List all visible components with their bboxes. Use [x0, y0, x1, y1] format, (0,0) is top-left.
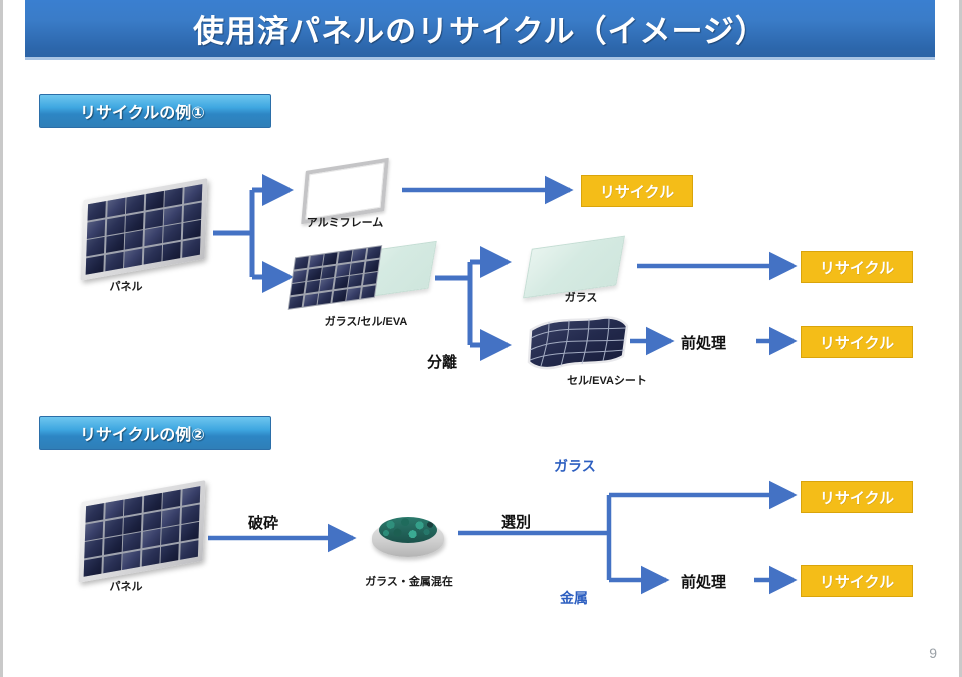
recycle-box-5[interactable]: リサイクル — [801, 565, 913, 597]
label-cell-eva-sheet: セル/EVAシート — [551, 372, 663, 388]
label-aluminum-frame: アルミフレーム — [293, 214, 397, 230]
recycle-box-2[interactable]: リサイクル — [801, 251, 913, 283]
section-badge-label-1: リサイクルの例① — [40, 99, 205, 123]
recycle-box-label-4: リサイクル — [820, 487, 894, 508]
s1-separation-split-connector — [435, 262, 508, 345]
process-crushing: 破砕 — [248, 512, 278, 533]
process-separation: 分離 — [427, 351, 457, 372]
cell-array-icon-composite — [288, 245, 382, 309]
solar-panel-icon-2 — [79, 480, 205, 582]
s2-sorting-split-connector — [458, 495, 794, 580]
solar-panel-icon-1 — [81, 178, 207, 280]
glass-metal-mix-icon — [372, 515, 444, 559]
branch-label-metal: 金属 — [560, 588, 588, 608]
slide-root: 使用済パネルのリサイクル（イメージ） — [0, 0, 962, 677]
label-glass: ガラス — [551, 289, 611, 305]
label-glass-cell-eva: ガラス/セル/EVA — [303, 313, 429, 329]
recycle-box-label-2: リサイクル — [820, 257, 894, 278]
process-pretreatment-2: 前処理 — [681, 571, 726, 592]
recycle-box-label-5: リサイクル — [820, 571, 894, 592]
slide-title-bar: 使用済パネルのリサイクル（イメージ） — [25, 0, 935, 60]
label-panel-1: パネル — [81, 278, 171, 294]
recycle-box-label-3: リサイクル — [820, 332, 894, 353]
label-glass-metal-mix: ガラス・金属混在 — [355, 573, 463, 589]
recycle-box-4[interactable]: リサイクル — [801, 481, 913, 513]
recycle-box-1[interactable]: リサイクル — [581, 175, 693, 207]
section-badge-label-2: リサイクルの例② — [40, 421, 205, 445]
page-number: 9 — [929, 645, 937, 661]
label-panel-2: パネル — [81, 578, 171, 594]
process-sorting: 選別 — [501, 511, 531, 532]
page-title: 使用済パネルのリサイクル（イメージ） — [193, 6, 767, 51]
recycle-box-3[interactable]: リサイクル — [801, 326, 913, 358]
section-badge-example-2: リサイクルの例② — [39, 416, 271, 450]
s1-panel-split-connector — [213, 190, 290, 277]
recycle-box-label-1: リサイクル — [600, 181, 674, 202]
branch-label-glass: ガラス — [554, 456, 596, 476]
section-badge-example-1: リサイクルの例① — [39, 94, 271, 128]
cell-eva-sheet-icon — [527, 316, 631, 372]
process-pretreatment-1: 前処理 — [681, 332, 726, 353]
